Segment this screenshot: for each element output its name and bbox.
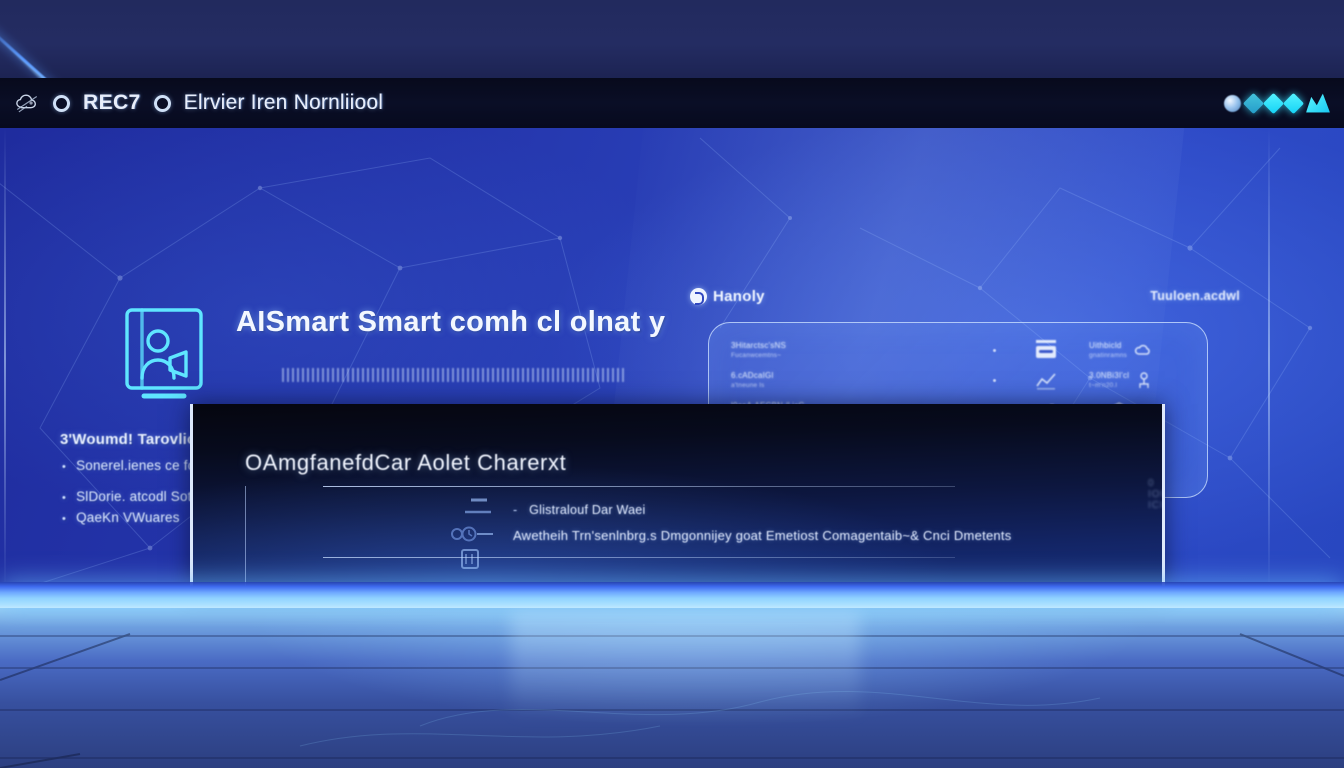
page-title: AISmart Smart comh cl olnat y: [236, 306, 665, 339]
console-glow: [193, 404, 1162, 590]
row-dot-icon: [985, 379, 1003, 382]
record-label: REC7: [83, 91, 141, 115]
upload-clock-trash-icons: [445, 494, 509, 572]
orb-icon[interactable]: [1224, 95, 1241, 112]
console-divider-bottom: [323, 557, 955, 558]
list-item-label: QaeKn VWuares: [76, 510, 180, 525]
console-row: Awetheih Trn'senlnbrg.s Dmgonnijey goat …: [513, 528, 1012, 543]
bullet-icon: •: [62, 492, 66, 504]
console-ghost-label: 0 IOIE ICIOS: [1148, 478, 1165, 511]
console-row-label: Awetheih Trn'senlnbrg.s Dmgonnijey goat …: [513, 528, 1012, 543]
document-person-monitor-icon: [118, 300, 210, 406]
screen-right-edge: [1268, 128, 1270, 590]
corner-label: Tuuloen.acdwl: [1150, 289, 1240, 303]
table-row: 3Hitarctsc'sNS Fucanwcemtns~: [731, 341, 977, 360]
diamond-icon-3[interactable]: [1283, 92, 1304, 113]
diamond-icon-2[interactable]: [1263, 92, 1284, 113]
cell-secondary: Fucanwcemtns~: [731, 352, 977, 360]
bullet-icon: •: [62, 461, 66, 473]
bullet-icon: -: [513, 503, 517, 517]
console-panel: OAmgfanefdCar Aolet Charerxt - Glistralo…: [190, 404, 1165, 590]
chart-mini-icon: [1011, 370, 1081, 392]
reflective-floor: [0, 606, 1344, 768]
cell-secondary: a'tneune ls: [731, 382, 977, 390]
console-row: - Glistralouf Dar Waei: [513, 503, 646, 517]
cloud-logo-icon[interactable]: [14, 91, 40, 115]
brand-label: Hanoly: [713, 288, 765, 305]
card-panel-icon: [1011, 338, 1081, 362]
cell-primary: 6.cADcaIGl: [731, 371, 773, 380]
header-left-group: REC7 Elrvier Iren Nornliiool: [14, 91, 1224, 115]
screen-left-edge: [4, 128, 6, 590]
row-dot-icon: [985, 349, 1003, 352]
header-right-group: [1224, 94, 1330, 113]
wave-logo-icon[interactable]: [1306, 94, 1330, 113]
console-row-label: Glistralouf Dar Waei: [529, 503, 645, 517]
cell-with-icon: Uithbicld gnatinramns: [1089, 341, 1191, 360]
cell-primary: 3Hitarctsc'sNS: [731, 341, 786, 350]
cell-primary: 3.0NBi3I'cl: [1089, 371, 1129, 380]
floor-shine: [511, 606, 860, 768]
status-dot-icon[interactable]: [154, 95, 171, 112]
brand-badge: Hanoly: [690, 288, 765, 305]
background-sky: [0, 0, 1344, 80]
table-row: 6.cADcaIGl a'tneune ls: [731, 371, 977, 390]
console-vertical-rule: [245, 486, 246, 586]
brand-mark-icon: [690, 288, 707, 305]
cell-secondary: gnatinramns: [1089, 352, 1127, 360]
diamond-icon-1[interactable]: [1243, 92, 1264, 113]
cell-secondary: t~m'n20.l: [1089, 382, 1129, 390]
cell-with-icon: 3.0NBi3I'cl t~m'n20.l: [1089, 371, 1191, 390]
console-title: OAmgfanefdCar Aolet Charerxt: [245, 450, 566, 476]
cloud-node-icon: [1134, 341, 1152, 359]
record-dot-icon[interactable]: [53, 95, 70, 112]
title-underline-graphic: [282, 368, 626, 382]
session-label: Elrvier Iren Nornliiool: [184, 91, 384, 115]
bullet-icon: •: [62, 513, 66, 525]
cell-primary: Uithbicld: [1089, 341, 1121, 350]
top-header-bar: REC7 Elrvier Iren Nornliiool: [0, 78, 1344, 128]
screenshot-stage: REC7 Elrvier Iren Nornliiool: [0, 0, 1344, 768]
tree-node-icon: [1136, 372, 1152, 390]
console-divider-top: [323, 486, 955, 487]
stage-glow-band: [0, 582, 1344, 608]
